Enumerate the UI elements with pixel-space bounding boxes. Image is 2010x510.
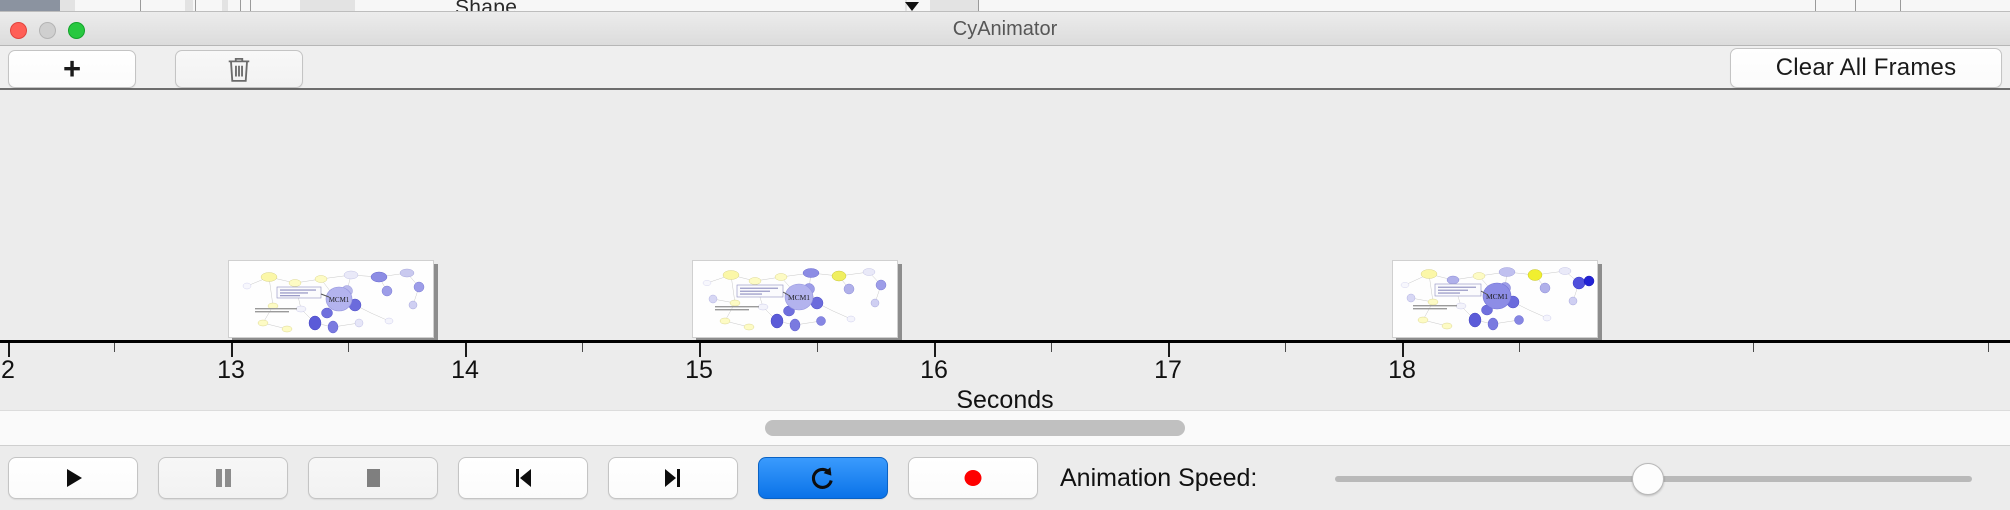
tick-major: [465, 343, 467, 357]
network-graph-thumbnail: MCM1: [1393, 261, 1598, 338]
prev-frame-button[interactable]: [458, 457, 588, 499]
pause-button[interactable]: [158, 457, 288, 499]
svg-text:MCM1: MCM1: [788, 293, 810, 302]
tick-minor: [1519, 343, 1520, 352]
tick-label: 16: [920, 356, 948, 385]
timeline-scrollbar[interactable]: [0, 410, 2010, 446]
timeline-panel[interactable]: MCM1: [0, 92, 2010, 410]
svg-text:MCM1: MCM1: [329, 296, 350, 304]
next-frame-button[interactable]: [608, 457, 738, 499]
animation-speed-label: Animation Speed:: [1060, 457, 1257, 499]
background-tab-label: Shape: [455, 0, 517, 12]
tick-minor: [1988, 343, 1989, 352]
record-icon: [960, 465, 986, 491]
toolbar: + Clear All Frames: [0, 46, 2010, 90]
frame-thumbnail: MCM1: [228, 260, 434, 338]
loop-icon: [809, 464, 837, 492]
animation-speed-slider-thumb[interactable]: [1632, 463, 1664, 495]
tick-minor: [114, 343, 115, 352]
loop-button[interactable]: [758, 457, 888, 499]
clear-all-frames-label: Clear All Frames: [1776, 54, 1957, 82]
cyanimator-window: Shape CyAnimator + Clear All Frames: [0, 0, 2010, 510]
tick-major: [1402, 343, 1404, 357]
background-cursor-icon: [905, 2, 919, 11]
timeline-frame-1[interactable]: MCM1: [228, 260, 438, 340]
tick-label: 18: [1388, 356, 1416, 385]
frame-thumbnail: MCM1: [1392, 260, 1598, 338]
clear-all-frames-button[interactable]: Clear All Frames: [1730, 48, 2002, 88]
tick-label: 13: [217, 356, 245, 385]
trash-icon: [226, 55, 252, 84]
skip-back-icon: [510, 465, 536, 491]
tick-major: [934, 343, 936, 357]
tick-minor: [1051, 343, 1052, 352]
svg-text:MCM1: MCM1: [1486, 292, 1508, 301]
title-bar: CyAnimator: [0, 12, 2010, 46]
frame-thumbnail: MCM1: [692, 260, 898, 338]
tick-label: 14: [451, 356, 479, 385]
tick-minor: [348, 343, 349, 352]
tick-major: [699, 343, 701, 357]
background-window-strip: Shape: [0, 0, 2010, 12]
tick-label: 2: [1, 356, 15, 385]
tick-minor: [1285, 343, 1286, 352]
stop-button[interactable]: [308, 457, 438, 499]
axis-title: Seconds: [0, 386, 2010, 410]
tick-minor: [1753, 343, 1754, 352]
tick-major: [8, 343, 10, 357]
tick-minor: [817, 343, 818, 352]
skip-forward-icon: [660, 465, 686, 491]
stop-icon: [360, 465, 386, 491]
record-button[interactable]: [908, 457, 1038, 499]
tick-major: [1168, 343, 1170, 357]
timeline-frame-3[interactable]: MCM1: [1392, 260, 1602, 340]
tick-label: 17: [1154, 356, 1182, 385]
play-icon: [60, 465, 86, 491]
add-frame-button[interactable]: +: [8, 50, 136, 88]
timeline-axis: [0, 340, 2010, 343]
scrollbar-thumb[interactable]: [765, 420, 1185, 436]
plus-icon: +: [63, 57, 81, 82]
tick-label: 15: [685, 356, 713, 385]
playback-controls: Animation Speed:: [0, 446, 2010, 510]
tick-major: [231, 343, 233, 357]
network-graph-thumbnail: MCM1: [229, 261, 434, 338]
window-title: CyAnimator: [0, 12, 2010, 46]
delete-frame-button[interactable]: [175, 50, 303, 88]
timeline-frame-2[interactable]: MCM1: [692, 260, 902, 340]
pause-icon: [210, 465, 236, 491]
play-button[interactable]: [8, 457, 138, 499]
network-graph-thumbnail: MCM1: [693, 261, 898, 338]
tick-minor: [582, 343, 583, 352]
